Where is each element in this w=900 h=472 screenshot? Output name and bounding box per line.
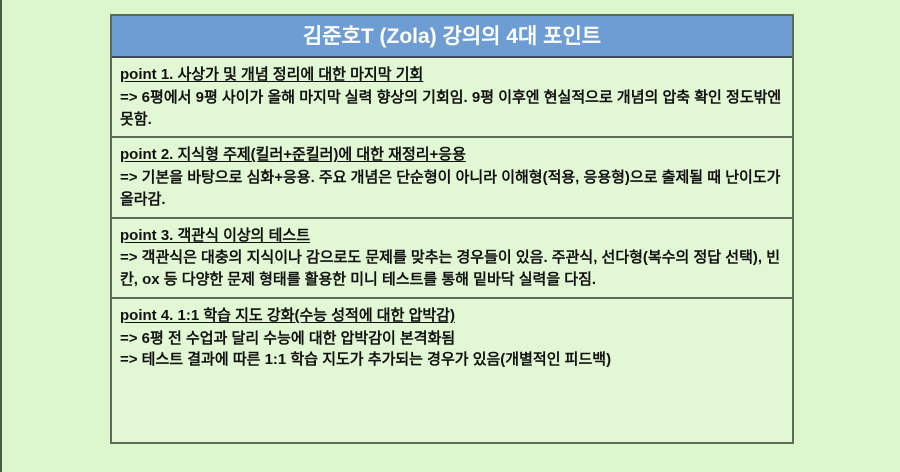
section-heading-1: point 1. 사상가 및 개념 정리에 대한 마지막 기회: [120, 64, 784, 86]
body-line: => 테스트 결과에 따른 1:1 학습 지도가 추가되는 경우가 있음(개별적…: [120, 349, 784, 371]
sections-list: point 1. 사상가 및 개념 정리에 대한 마지막 기회 => 6평에서 …: [112, 58, 792, 442]
body-line: => 기본을 바탕으로 심화+응용. 주요 개념은 단순형이 아니라 이해형(적…: [120, 167, 784, 211]
page-title: 김준호T (Zola) 강의의 4대 포인트: [303, 26, 601, 47]
section-body-4: => 6평 전 수업과 달리 수능에 대한 압박감이 본격화됨 => 테스트 결…: [120, 328, 784, 372]
section-body-1: => 6평에서 9평 사이가 올해 마지막 실력 향상의 기회임. 9평 이후엔…: [120, 87, 784, 131]
section-body-3: => 객관식은 대충의 지식이나 감으로도 문제를 맞추는 경우들이 있음. 주…: [120, 247, 784, 291]
section-point-1: point 1. 사상가 및 개념 정리에 대한 마지막 기회 => 6평에서 …: [112, 58, 792, 138]
card-header: 김준호T (Zola) 강의의 4대 포인트: [112, 16, 792, 58]
section-point-4: point 4. 1:1 학습 지도 강화(수능 성적에 대한 압박감) => …: [112, 299, 792, 377]
slide-canvas: 김준호T (Zola) 강의의 4대 포인트 point 1. 사상가 및 개념…: [2, 0, 900, 472]
lecture-points-card: 김준호T (Zola) 강의의 4대 포인트 point 1. 사상가 및 개념…: [110, 14, 794, 444]
body-line: => 객관식은 대충의 지식이나 감으로도 문제를 맞추는 경우들이 있음. 주…: [120, 247, 784, 291]
body-line: => 6평에서 9평 사이가 올해 마지막 실력 향상의 기회임. 9평 이후엔…: [120, 87, 784, 131]
section-heading-3: point 3. 객관식 이상의 테스트: [120, 225, 784, 247]
body-line: => 6평 전 수업과 달리 수능에 대한 압박감이 본격화됨: [120, 328, 784, 350]
section-body-2: => 기본을 바탕으로 심화+응용. 주요 개념은 단순형이 아니라 이해형(적…: [120, 167, 784, 211]
section-heading-2: point 2. 지식형 주제(킬러+준킬러)에 대한 재정리+응용: [120, 144, 784, 166]
section-point-2: point 2. 지식형 주제(킬러+준킬러)에 대한 재정리+응용 => 기본…: [112, 138, 792, 218]
section-point-3: point 3. 객관식 이상의 테스트 => 객관식은 대충의 지식이나 감으…: [112, 219, 792, 299]
section-heading-4: point 4. 1:1 학습 지도 강화(수능 성적에 대한 압박감): [120, 305, 784, 327]
